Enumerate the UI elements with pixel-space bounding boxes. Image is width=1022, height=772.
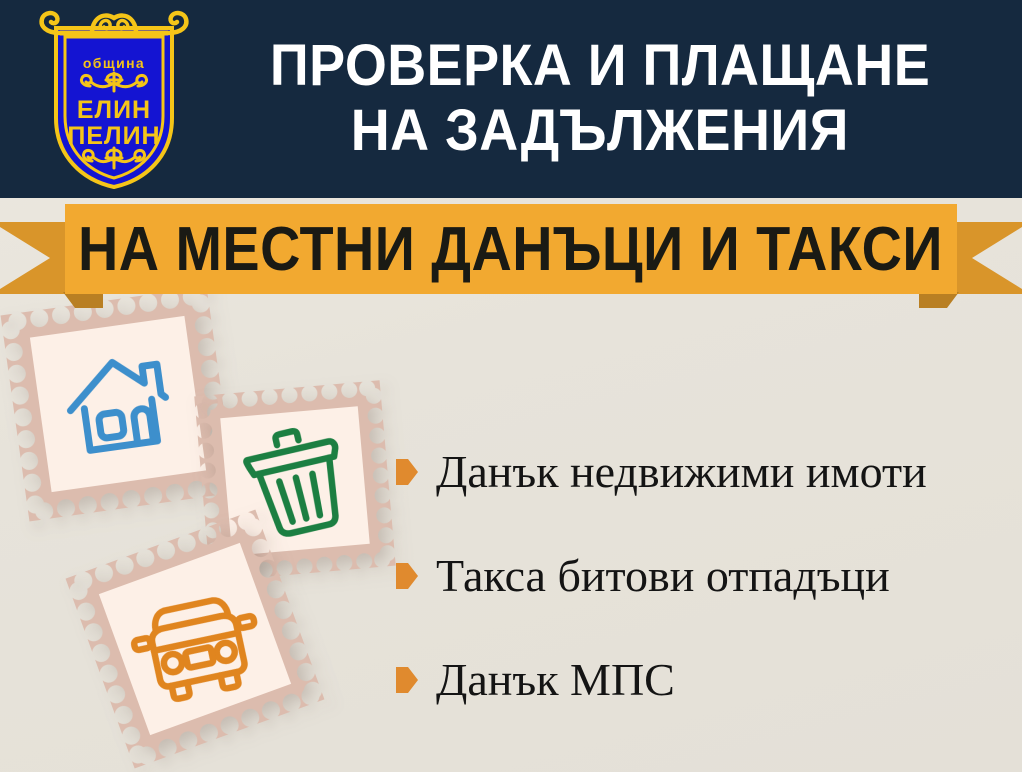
page-title-line-2: НА ЗАДЪЛЖЕНИЯ	[351, 99, 849, 164]
municipality-logo: община ЕЛИН ПЕЛИН	[34, 6, 194, 192]
arrow-bullet-icon	[396, 667, 418, 693]
arrow-bullet-icon	[396, 459, 418, 485]
list-item[interactable]: Данък недвижими имоти	[396, 420, 1016, 524]
logo-name-line2: ПЕЛИН	[67, 122, 160, 150]
page-title-line-1: ПРОВЕРКА И ПЛАЩАНЕ	[270, 34, 930, 99]
list-item-label: Данък недвижими имоти	[436, 449, 927, 495]
list-item[interactable]: Такса битови отпадъци	[396, 524, 1016, 628]
poster-canvas: община ЕЛИН ПЕЛИН	[0, 0, 1022, 772]
coat-of-arms-icon: община ЕЛИН ПЕЛИН	[34, 6, 194, 192]
ribbon-fold-right	[919, 292, 959, 308]
arrow-bullet-icon	[396, 563, 418, 589]
page-title: ПРОВЕРКА И ПЛАЩАНЕ НА ЗАДЪЛЖЕНИЯ	[190, 14, 1010, 184]
subtitle-ribbon: НА МЕСТНИ ДАНЪЦИ И ТАКСИ	[0, 196, 1022, 314]
ribbon-fold-left	[63, 292, 103, 308]
ribbon-label: НА МЕСТНИ ДАНЪЦИ И ТАКСИ	[79, 214, 944, 285]
list-item-label: Такса битови отпадъци	[436, 553, 890, 599]
logo-name-line1: ЕЛИН	[77, 96, 151, 124]
list-item-label: Данък МПС	[436, 657, 675, 703]
logo-municipality-label: община	[83, 55, 145, 71]
tax-type-list: Данък недвижими имоти Такса битови отпад…	[396, 420, 1016, 732]
list-item[interactable]: Данък МПС	[396, 628, 1016, 732]
ribbon-banner: НА МЕСТНИ ДАНЪЦИ И ТАКСИ	[65, 204, 957, 294]
